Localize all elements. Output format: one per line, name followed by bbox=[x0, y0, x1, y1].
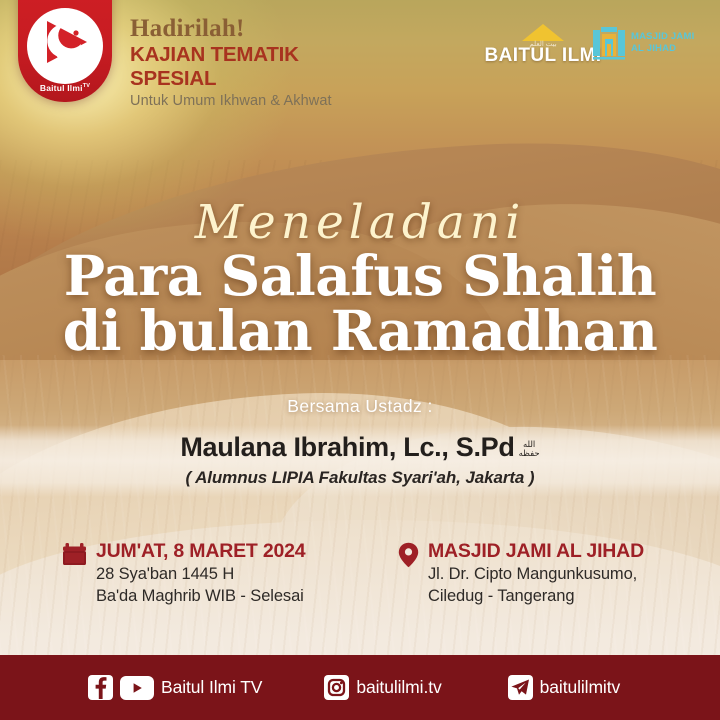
telegram-icon[interactable] bbox=[508, 675, 533, 700]
title-script: Meneladani bbox=[0, 195, 720, 250]
event-date-block: JUM'AT, 8 MARET 2024 28 Sya'ban 1445 H B… bbox=[62, 540, 305, 608]
header-line-3: Untuk Umum Ikhwan & Akhwat bbox=[130, 93, 390, 110]
speaker-honorific: اللهحفظه bbox=[519, 440, 540, 458]
partner-masjid-line-2: AL JIHAD bbox=[631, 43, 694, 55]
event-place-text: MASJID JAMI AL JIHAD Jl. Dr. Cipto Mangu… bbox=[428, 540, 644, 608]
partner-baitul-ilmi-logo: بيت العلم BAITUL ILMI bbox=[478, 24, 608, 65]
event-place-block: MASJID JAMI AL JIHAD Jl. Dr. Cipto Mangu… bbox=[398, 540, 644, 608]
facebook-icon[interactable] bbox=[88, 675, 113, 700]
social-label-telegram[interactable]: baitulilmitv bbox=[540, 677, 621, 698]
roof-icon bbox=[522, 24, 564, 41]
event-place-sub-1: Jl. Dr. Cipto Mangunkusumo, bbox=[428, 564, 644, 586]
youtube-icon[interactable] bbox=[120, 676, 154, 700]
calendar-icon bbox=[62, 542, 87, 567]
partner-masjid-line-1: MASJID JAMI bbox=[631, 31, 694, 43]
speaker-name: Maulana Ibrahim, Lc., S.Pd bbox=[180, 432, 514, 462]
event-place-headline: MASJID JAMI AL JIHAD bbox=[428, 540, 644, 562]
logo-wordmark-text: Baitul Ilmi bbox=[40, 83, 83, 93]
title-line-2: di bulan Ramadhan bbox=[0, 298, 720, 363]
partner-masjid-text: MASJID JAMI AL JIHAD bbox=[631, 31, 694, 55]
speaker-credentials: ( Alumnus LIPIA Fakultas Syari'ah, Jakar… bbox=[0, 468, 720, 488]
social-account-facebook-youtube[interactable]: Baitul Ilmi TV bbox=[88, 675, 262, 700]
event-date-sub-1: 28 Sya'ban 1445 H bbox=[96, 564, 305, 586]
honorific-line-2: حفظه bbox=[519, 449, 540, 458]
event-place-sub-2: Ciledug - Tangerang bbox=[428, 586, 644, 608]
play-crescent-icon bbox=[27, 8, 103, 84]
header-line-1: Hadirilah! bbox=[130, 16, 390, 42]
social-label-instagram[interactable]: baitulilmi.tv bbox=[356, 677, 441, 698]
partner-masjid-logo: MASJID JAMI AL JIHAD bbox=[592, 26, 716, 60]
partner-name-text: BAITUL ILMI bbox=[478, 46, 608, 65]
instagram-icon[interactable] bbox=[324, 675, 349, 700]
location-pin-icon bbox=[398, 542, 419, 568]
social-account-telegram[interactable]: baitulilmitv bbox=[508, 675, 621, 700]
header-text-block: Hadirilah! KAJIAN TEMATIK SPESIAL Untuk … bbox=[130, 16, 390, 111]
speaker-name-row: Maulana Ibrahim, Lc., S.Pdاللهحفظه bbox=[0, 432, 720, 463]
logo-wordmark-tv: TV bbox=[83, 83, 90, 89]
event-poster: Baitul IlmiTV Hadirilah! KAJIAN TEMATIK … bbox=[0, 0, 720, 720]
header-line-2: KAJIAN TEMATIK SPESIAL bbox=[130, 43, 390, 90]
event-date-sub-2: Ba'da Maghrib WIB - Selesai bbox=[96, 586, 305, 608]
social-label-youtube[interactable]: Baitul Ilmi TV bbox=[161, 677, 262, 698]
mosque-icon bbox=[592, 26, 626, 60]
event-date-text: JUM'AT, 8 MARET 2024 28 Sya'ban 1445 H B… bbox=[96, 540, 305, 608]
social-account-instagram[interactable]: baitulilmi.tv bbox=[324, 675, 441, 700]
event-date-headline: JUM'AT, 8 MARET 2024 bbox=[96, 540, 305, 562]
speaker-intro: Bersama Ustadz : bbox=[0, 396, 720, 417]
social-footer: Baitul Ilmi TV baitulilmi.tv baitulilmit… bbox=[0, 655, 720, 720]
logo-wordmark: Baitul IlmiTV bbox=[18, 83, 112, 93]
baitul-ilmi-logo: Baitul IlmiTV bbox=[18, 0, 112, 102]
